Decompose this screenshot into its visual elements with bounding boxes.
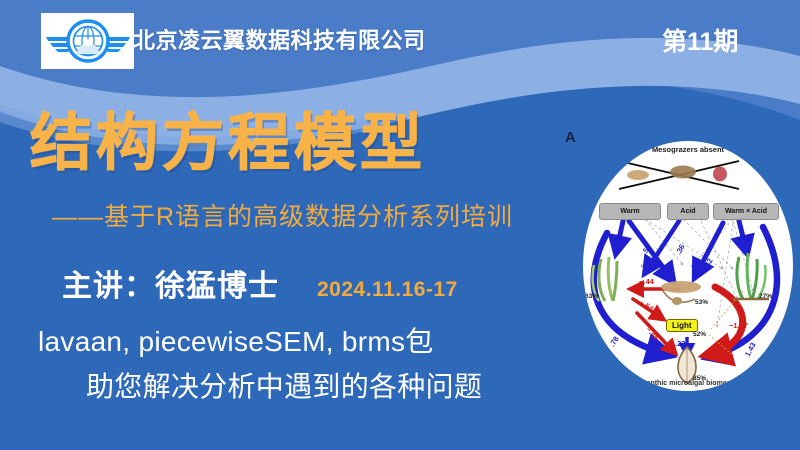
course-date: 2024.11.16-17	[317, 278, 458, 302]
page-subtitle: ——基于R语言的高级数据分析系列培训	[52, 197, 513, 233]
coefficient-label: −1.27	[729, 321, 748, 330]
sem-path-arrows	[583, 141, 793, 391]
predictor-box-acid: Acid	[667, 203, 709, 220]
variance-label: 52%	[693, 331, 706, 338]
company-logo	[41, 13, 134, 69]
help-line: 助您解决分析中遇到的各种问题	[86, 365, 482, 405]
poster-canvas: 北京凌云翼数据科技有限公司 第11期 结构方程模型 ——基于R语言的高级数据分析…	[0, 0, 800, 450]
packages-line: lavaan, piecewiseSEM, brms包	[38, 320, 434, 360]
company-name: 北京凌云翼数据科技有限公司	[133, 23, 426, 55]
issue-badge: 第11期	[662, 22, 738, 58]
sem-figure: A	[575, 133, 797, 395]
coefficient-label: .53	[741, 233, 751, 242]
presenter-row: 主讲：徐猛博士 2024.11.16-17	[62, 261, 458, 305]
figure-circle-mask: Mesograzers absent Benthic microalgal bi…	[583, 141, 793, 391]
page-title: 结构方程模型	[30, 92, 426, 182]
winged-globe-logo-icon	[44, 18, 132, 64]
variance-label: 27%	[759, 293, 772, 300]
predictor-box-warm-acid: Warm × Acid	[713, 203, 779, 220]
variance-label: 53%	[695, 299, 708, 306]
variance-label: 63%	[585, 293, 598, 300]
coefficient-label: .22	[675, 339, 685, 348]
variance-label: 85%	[693, 375, 706, 382]
figure-caption: Benthic microalgal biomass	[583, 380, 793, 387]
predictor-box-warm: Warm	[599, 203, 661, 220]
figure-panel-label: A	[565, 129, 576, 146]
speaker-name: 主讲：徐猛博士	[62, 261, 279, 305]
figure-title: Mesograzers absent	[583, 145, 793, 154]
coefficient-label: −.44	[639, 277, 654, 286]
